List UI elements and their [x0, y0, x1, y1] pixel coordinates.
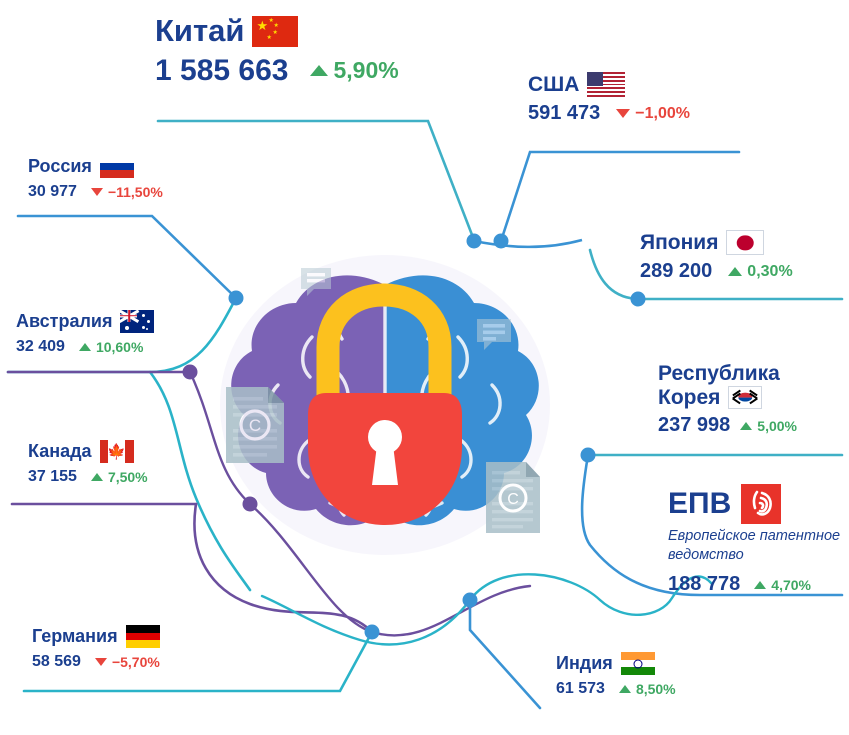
node-australia-label: Австралия — [16, 311, 112, 331]
arrow-up-icon — [91, 473, 103, 481]
connector-usa — [501, 152, 739, 241]
node-epo-label: ЕПВ — [668, 487, 731, 521]
flag-south-korea — [728, 386, 762, 409]
node-korea-value: 237 998 — [658, 414, 730, 437]
arrow-down-icon — [91, 188, 103, 196]
node-india-delta: 8,50% — [619, 681, 676, 697]
node-canada-value: 37 155 — [28, 468, 77, 486]
node-australia-delta: 10,60% — [79, 339, 143, 355]
node-russia-delta-text: −11,50% — [108, 184, 163, 200]
node-usa-delta: −1,00% — [616, 105, 690, 123]
node-epo-delta: 4,70% — [754, 577, 811, 593]
node-usa-stats: 591 473 −1,00% — [528, 102, 690, 125]
node-dot-germany — [365, 625, 380, 640]
node-usa[interactable]: США 591 473 −1,00% — [528, 72, 690, 125]
node-usa-label: США — [528, 73, 579, 97]
node-china-name-row: Китай ★ ★ ★ ★ ★ — [155, 14, 399, 49]
node-epo-delta-text: 4,70% — [771, 577, 811, 593]
node-korea-label-line2: Корея — [658, 386, 720, 410]
node-korea[interactable]: Республика Корея 237 998 5,00% — [658, 362, 797, 437]
node-india-stats: 61 573 8,50% — [556, 680, 676, 698]
node-australia-delta-text: 10,60% — [96, 339, 143, 355]
node-dot-india — [463, 593, 478, 608]
node-japan-stats: 289 200 0,30% — [640, 260, 793, 283]
arrow-up-icon — [79, 343, 91, 351]
node-korea-delta: 5,00% — [740, 418, 797, 434]
node-canada-label: Канада — [28, 441, 92, 461]
node-russia[interactable]: Россия 30 977 −11,50% — [28, 155, 163, 201]
node-australia-name-row: Австралия — [16, 310, 154, 333]
speech-bubble-icon — [474, 316, 514, 361]
node-usa-value: 591 473 — [528, 102, 600, 125]
node-china-delta: 5,90% — [310, 57, 398, 84]
flag-usa — [587, 72, 625, 97]
node-japan-delta: 0,30% — [728, 263, 792, 281]
node-japan-delta-text: 0,30% — [747, 263, 792, 281]
node-russia-name-row: Россия — [28, 155, 163, 178]
copyright-document-icon: C — [484, 460, 542, 540]
node-usa-delta-text: −1,00% — [635, 105, 690, 123]
node-china-value: 1 585 663 — [155, 54, 288, 88]
node-korea-label-line1: Республика — [658, 362, 797, 386]
node-china-stats: 1 585 663 5,90% — [155, 54, 399, 88]
node-germany-delta-text: −5,70% — [112, 654, 160, 670]
node-germany-delta: −5,70% — [95, 654, 160, 670]
node-usa-name-row: США — [528, 72, 690, 97]
copyright-document-icon: C — [224, 385, 286, 470]
arrow-down-icon — [616, 109, 630, 118]
connector-meander-2 — [262, 596, 470, 644]
node-canada-name-row: Канада 🍁 — [28, 440, 148, 463]
flag-germany — [126, 625, 160, 648]
node-india[interactable]: Индия 61 573 8,50% — [556, 652, 676, 698]
logo-european-patent-office — [741, 484, 781, 524]
node-dot-japan — [631, 292, 646, 307]
node-china-delta-text: 5,90% — [333, 57, 398, 84]
flag-india — [621, 652, 655, 675]
node-russia-value: 30 977 — [28, 183, 77, 201]
connector-india — [470, 600, 540, 708]
node-india-name-row: Индия — [556, 652, 676, 675]
flag-china: ★ ★ ★ ★ ★ — [252, 16, 298, 47]
node-russia-delta: −11,50% — [91, 184, 163, 200]
node-australia-stats: 32 409 10,60% — [16, 338, 154, 356]
connector-china — [158, 121, 474, 240]
node-dot-australia — [183, 365, 198, 380]
flag-russia — [100, 155, 134, 178]
speech-bubble-icon — [298, 265, 334, 306]
node-germany-stats: 58 569 −5,70% — [32, 653, 160, 671]
node-korea-delta-text: 5,00% — [757, 418, 797, 434]
node-russia-stats: 30 977 −11,50% — [28, 183, 163, 201]
node-dot-korea — [581, 448, 596, 463]
arrow-up-icon — [754, 581, 766, 589]
node-korea-stats: 237 998 5,00% — [658, 414, 797, 437]
node-canada-delta-text: 7,50% — [108, 469, 148, 485]
node-india-label: Индия — [556, 653, 613, 673]
infographic-root: C C Китай ★ ★ ★ ★ ★ — [0, 0, 849, 735]
node-india-value: 61 573 — [556, 680, 605, 698]
arrow-up-icon — [728, 267, 742, 276]
node-epo-value: 188 778 — [668, 573, 740, 596]
node-epo-subtitle: Европейское патентное ведомство — [668, 527, 848, 564]
node-korea-name-row: Республика Корея — [658, 362, 797, 409]
node-canada-delta: 7,50% — [91, 469, 148, 485]
node-germany-name-row: Германия — [32, 625, 160, 648]
node-canada-stats: 37 155 7,50% — [28, 468, 148, 486]
node-japan-value: 289 200 — [640, 260, 712, 283]
node-japan[interactable]: Япония 289 200 0,30% — [640, 230, 793, 283]
node-germany-label: Германия — [32, 626, 118, 646]
node-china[interactable]: Китай ★ ★ ★ ★ ★ 1 585 663 5,90% — [155, 14, 399, 88]
node-russia-label: Россия — [28, 156, 92, 176]
node-japan-name-row: Япония — [640, 230, 793, 255]
node-japan-label: Япония — [640, 231, 718, 255]
arrow-down-icon — [95, 658, 107, 666]
node-epo-stats: 188 778 4,70% — [668, 573, 848, 596]
node-australia[interactable]: Австралия 32 409 10,60% — [16, 310, 154, 356]
arrow-up-icon — [310, 65, 328, 76]
node-china-label: Китай — [155, 14, 244, 49]
node-germany[interactable]: Германия 58 569 −5,70% — [32, 625, 160, 671]
flag-canada: 🍁 — [100, 440, 134, 463]
svg-text:C: C — [249, 416, 261, 435]
arrow-up-icon — [740, 422, 752, 430]
node-canada[interactable]: Канада 🍁 37 155 7,50% — [28, 440, 148, 486]
node-germany-value: 58 569 — [32, 653, 81, 671]
flag-australia — [120, 310, 154, 333]
flag-japan — [726, 230, 764, 255]
arrow-up-icon — [619, 685, 631, 693]
node-epo-name-row: ЕПВ — [668, 484, 848, 524]
node-australia-value: 32 409 — [16, 338, 65, 356]
node-india-delta-text: 8,50% — [636, 681, 676, 697]
node-epo[interactable]: ЕПВ Европейское патентное ведомство 188 … — [668, 484, 848, 596]
svg-text:C: C — [507, 491, 519, 508]
